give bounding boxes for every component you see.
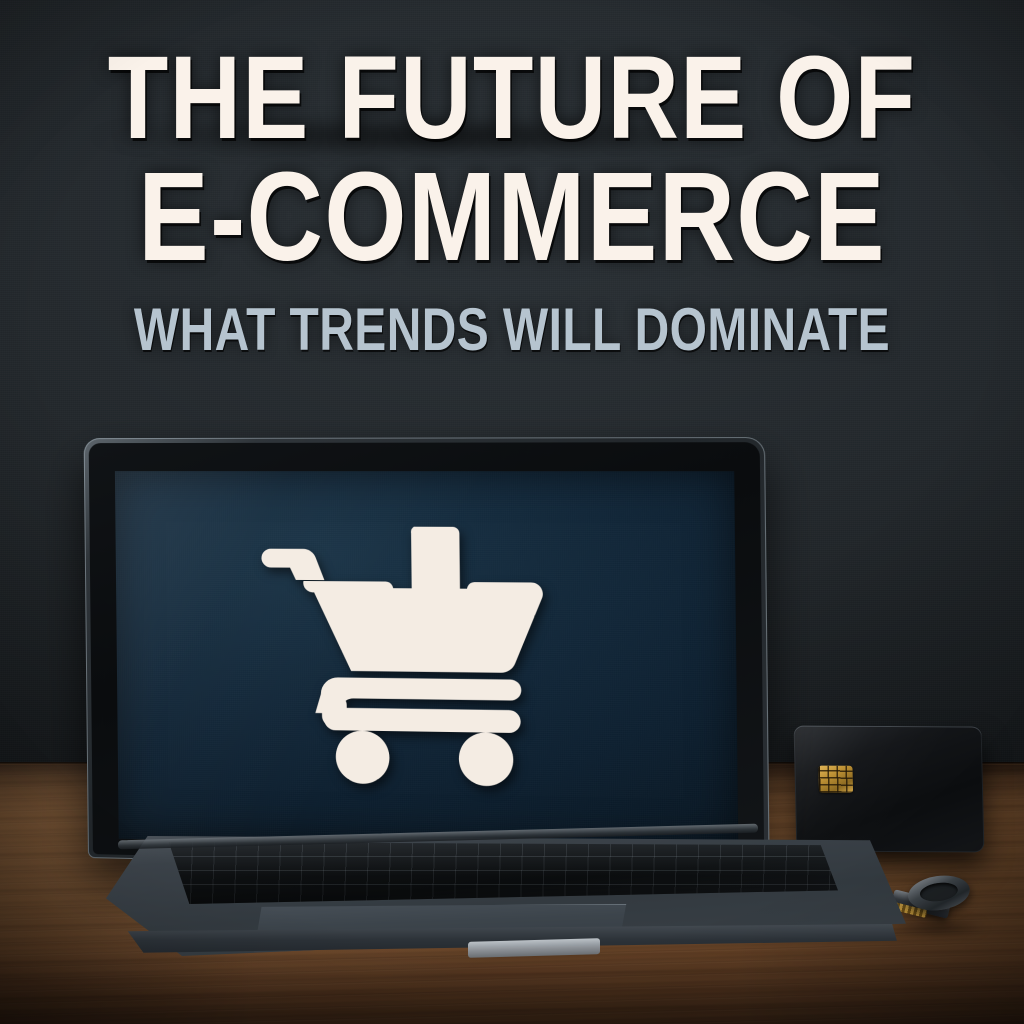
laptop-bezel <box>89 442 765 869</box>
screen-glare <box>115 471 738 852</box>
keyboard-shading <box>148 842 838 904</box>
poster-headline-block: THE FUTURE OF E-COMMERCE WHAT TRENDS WIL… <box>0 44 1024 360</box>
laptop-lid <box>84 437 770 874</box>
page-title-line-1: THE FUTURE OF <box>82 44 942 153</box>
laptop-base <box>106 836 906 978</box>
poster-canvas: THE FUTURE OF E-COMMERCE WHAT TRENDS WIL… <box>0 0 1024 1024</box>
laptop-lid-notch <box>468 938 600 958</box>
laptop-keyboard[interactable] <box>148 842 838 904</box>
page-subtitle: WHAT TRENDS WILL DOMINATE <box>102 300 921 360</box>
page-title-line-2: E-COMMERCE <box>82 159 942 275</box>
laptop-screen[interactable] <box>115 471 738 852</box>
